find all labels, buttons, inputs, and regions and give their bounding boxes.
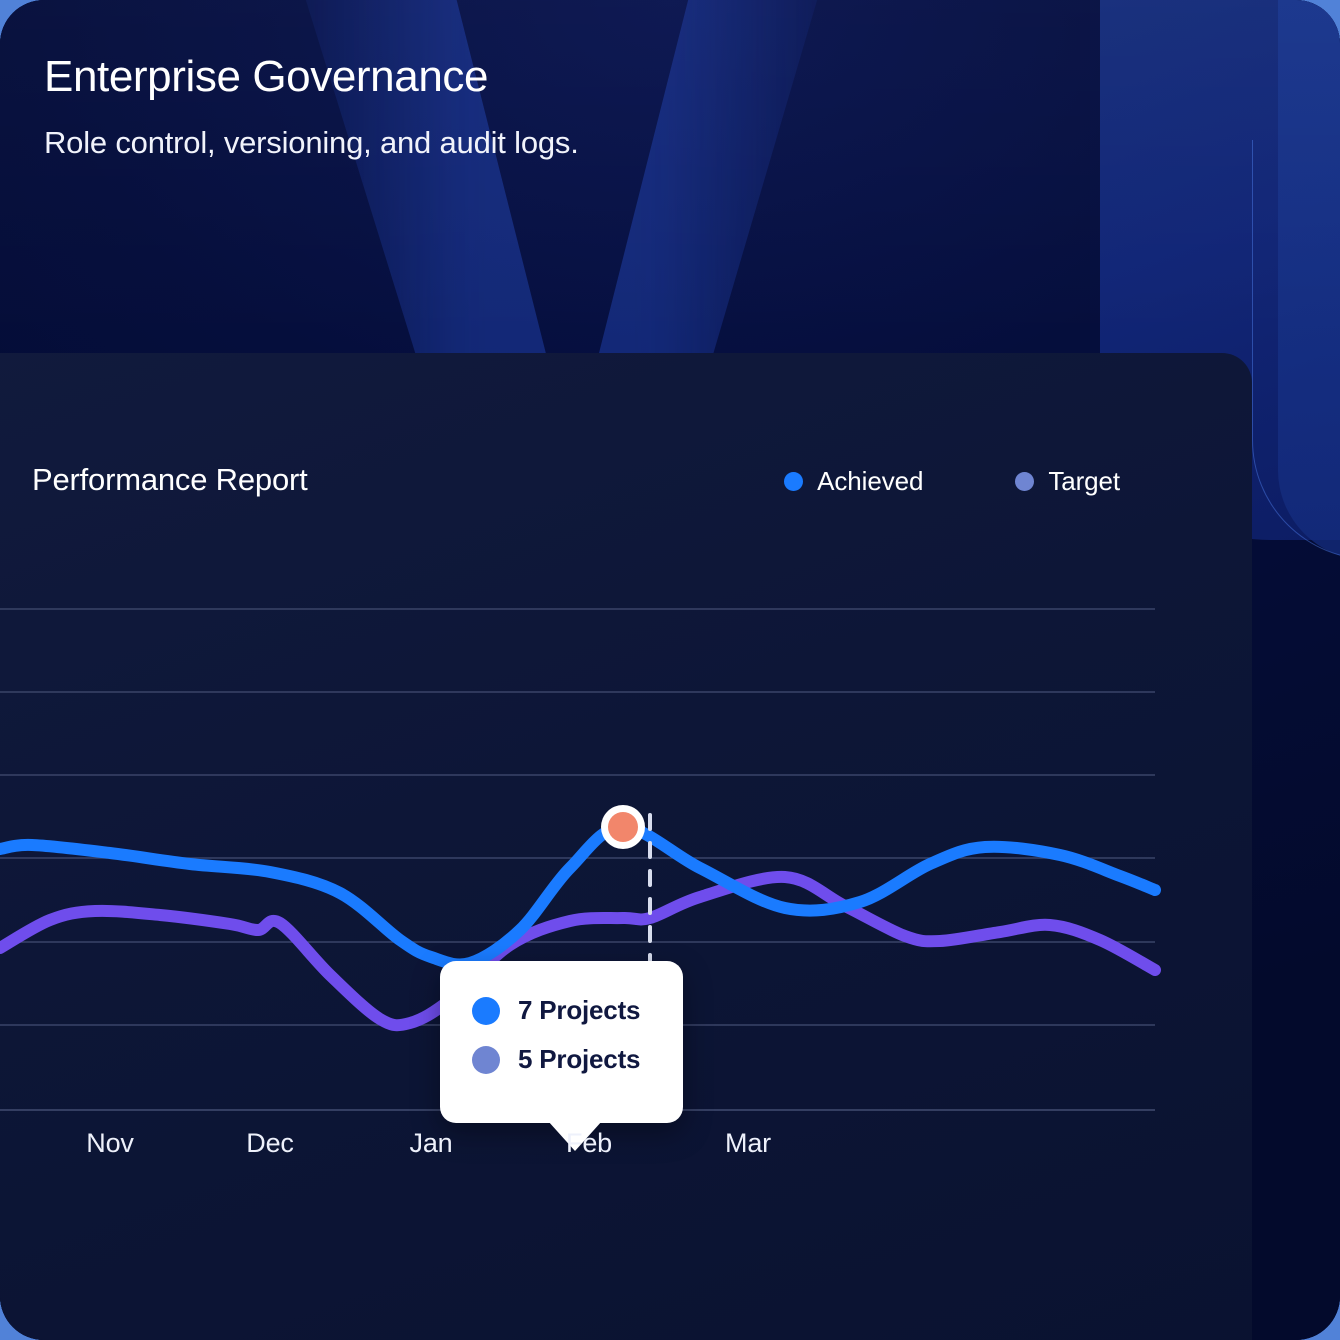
x-axis-tick-nov: Nov [86,1128,133,1159]
chart-title: Performance Report [32,462,308,498]
marker-core-icon [608,812,638,842]
tooltip-dot-icon-target [472,1046,500,1074]
x-axis-tick-mar: Mar [725,1128,771,1159]
screenshot-root: Enterprise Governance Role control, vers… [0,0,1340,1340]
tooltip-value-target: 5 Projects [518,1044,640,1075]
page-subtitle: Role control, versioning, and audit logs… [44,125,944,161]
legend-item-target[interactable]: Target [1015,466,1120,497]
x-axis-tick-jan: Jan [410,1128,453,1159]
page-header: Enterprise Governance Role control, vers… [44,52,944,161]
tooltip-row-target: 5 Projects [472,1044,683,1075]
legend-dot-icon-achieved [784,472,803,491]
legend-label-target: Target [1048,466,1120,497]
chart-tooltip: 7 Projects 5 Projects [440,961,683,1123]
legend-label-achieved: Achieved [817,466,923,497]
chart-data-point-marker[interactable] [601,805,645,849]
chart-legend: Achieved Target [784,466,1120,497]
card-header: Performance Report Achieved Target [32,458,1182,518]
legend-dot-icon-target [1015,472,1034,491]
page-title: Enterprise Governance [44,52,944,103]
x-axis-tick-feb: Feb [566,1128,612,1159]
chart-line-achieved [0,827,1155,965]
x-axis-tick-dec: Dec [246,1128,293,1159]
tooltip-row-achieved: 7 Projects [472,995,683,1026]
tooltip-value-achieved: 7 Projects [518,995,640,1026]
chart-x-axis: NovDecJanFebMar [0,1128,1340,1188]
tooltip-dot-icon-achieved [472,997,500,1025]
performance-report-card: Performance Report Achieved Target [0,353,1252,1340]
legend-item-achieved[interactable]: Achieved [784,466,923,497]
